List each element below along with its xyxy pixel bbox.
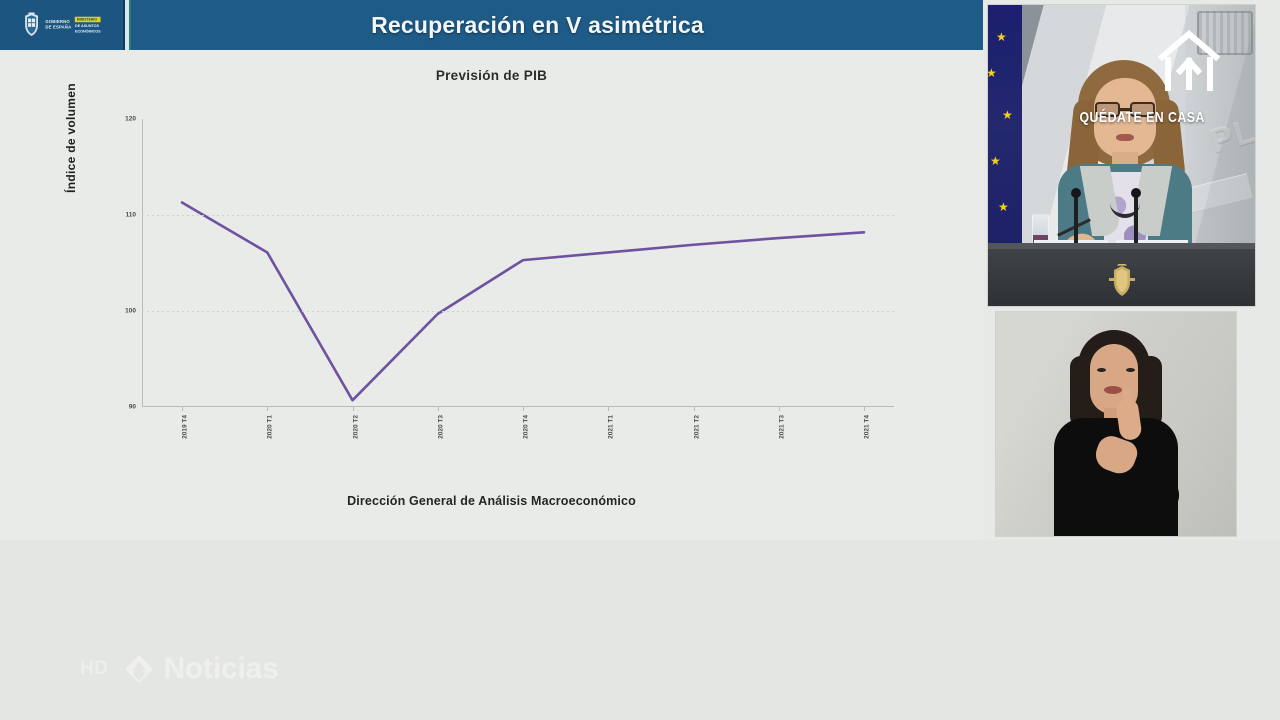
video-column: ★ ★ ★ ★ ★ ★ PL bbox=[983, 0, 1280, 540]
hd-quality-tag: HD bbox=[80, 658, 108, 680]
slide-title: Recuperación en V asimétrica bbox=[132, 12, 983, 39]
x-axis-tick-label: 2020 T2 bbox=[352, 415, 359, 439]
x-axis-tickmark bbox=[864, 407, 865, 411]
x-axis-tick-label: 2021 T1 bbox=[608, 415, 615, 439]
x-axis-tickmark bbox=[523, 407, 524, 411]
logo-ministry-line-1: DE ASUNTOS bbox=[76, 23, 102, 28]
y-axis-tick: 100 bbox=[125, 308, 136, 315]
x-axis-tick-label: 2020 T4 bbox=[523, 415, 530, 439]
y-axis-tick: 120 bbox=[125, 116, 136, 123]
logo-ministry-badge: MINISTERIO bbox=[76, 16, 102, 22]
y-axis-tick: 90 bbox=[129, 404, 136, 411]
x-axis-tickmark bbox=[267, 407, 268, 411]
y-axis-label: Índice de volumen bbox=[64, 63, 78, 213]
gridline bbox=[142, 311, 894, 312]
x-axis-tick-label: 2020 T1 bbox=[267, 415, 274, 439]
press-conference-feed: ★ ★ ★ ★ ★ ★ PL bbox=[987, 4, 1256, 307]
lectern bbox=[988, 248, 1255, 306]
antena3-diamond-logo-icon bbox=[124, 654, 154, 684]
x-axis-tick-label: 2019 T4 bbox=[182, 415, 189, 439]
x-axis-tick-label: 2021 T3 bbox=[778, 415, 785, 439]
presentation-slide: GOBIERNO DE ESPAÑA MINISTERIO DE ASUNTOS… bbox=[0, 0, 983, 540]
source-note: Dirección General de Análisis Macroeconó… bbox=[0, 494, 983, 508]
x-axis-tickmark bbox=[779, 407, 780, 411]
header-divider bbox=[123, 0, 132, 50]
plot-region: 120110100902019 T42020 T12020 T22020 T32… bbox=[142, 119, 894, 407]
slide-header-bar: GOBIERNO DE ESPAÑA MINISTERIO DE ASUNTOS… bbox=[0, 0, 983, 50]
spain-coat-of-arms-icon bbox=[22, 12, 42, 38]
government-logo: GOBIERNO DE ESPAÑA MINISTERIO DE ASUNTOS… bbox=[0, 0, 123, 50]
channel-name: Noticias bbox=[163, 652, 278, 686]
x-axis-tick-label: 2021 T2 bbox=[693, 415, 700, 439]
x-axis-tick-label: 2021 T4 bbox=[864, 415, 871, 439]
series-line bbox=[182, 203, 864, 401]
y-axis-tick: 110 bbox=[126, 212, 137, 219]
interpreter-figure bbox=[1040, 330, 1192, 536]
chart-area: Índice de volumen 120110100902019 T42020… bbox=[60, 105, 920, 460]
broadcast-frame: GOBIERNO DE ESPAÑA MINISTERIO DE ASUNTOS… bbox=[0, 0, 1280, 720]
logo-ministry-line-2: ECONÓMICOS bbox=[76, 29, 102, 34]
gridline bbox=[142, 215, 894, 216]
x-axis-tick-label: 2020 T3 bbox=[437, 415, 444, 439]
gdp-forecast-line bbox=[142, 119, 894, 407]
glasses-icon bbox=[1094, 102, 1156, 118]
sign-language-interpreter-feed bbox=[995, 311, 1237, 537]
x-axis-tickmark bbox=[182, 407, 183, 411]
x-axis-tickmark bbox=[353, 407, 354, 411]
lower-band bbox=[0, 540, 1280, 720]
x-axis-tickmark bbox=[694, 407, 695, 411]
chart-title: Previsión de PIB bbox=[0, 68, 983, 83]
channel-branding: HD Noticias bbox=[80, 652, 279, 686]
lectern-crest-icon bbox=[1107, 264, 1137, 298]
logo-government-line-2: DE ESPAÑA bbox=[46, 25, 72, 30]
x-axis-tickmark bbox=[438, 407, 439, 411]
x-axis-tickmark bbox=[608, 407, 609, 411]
